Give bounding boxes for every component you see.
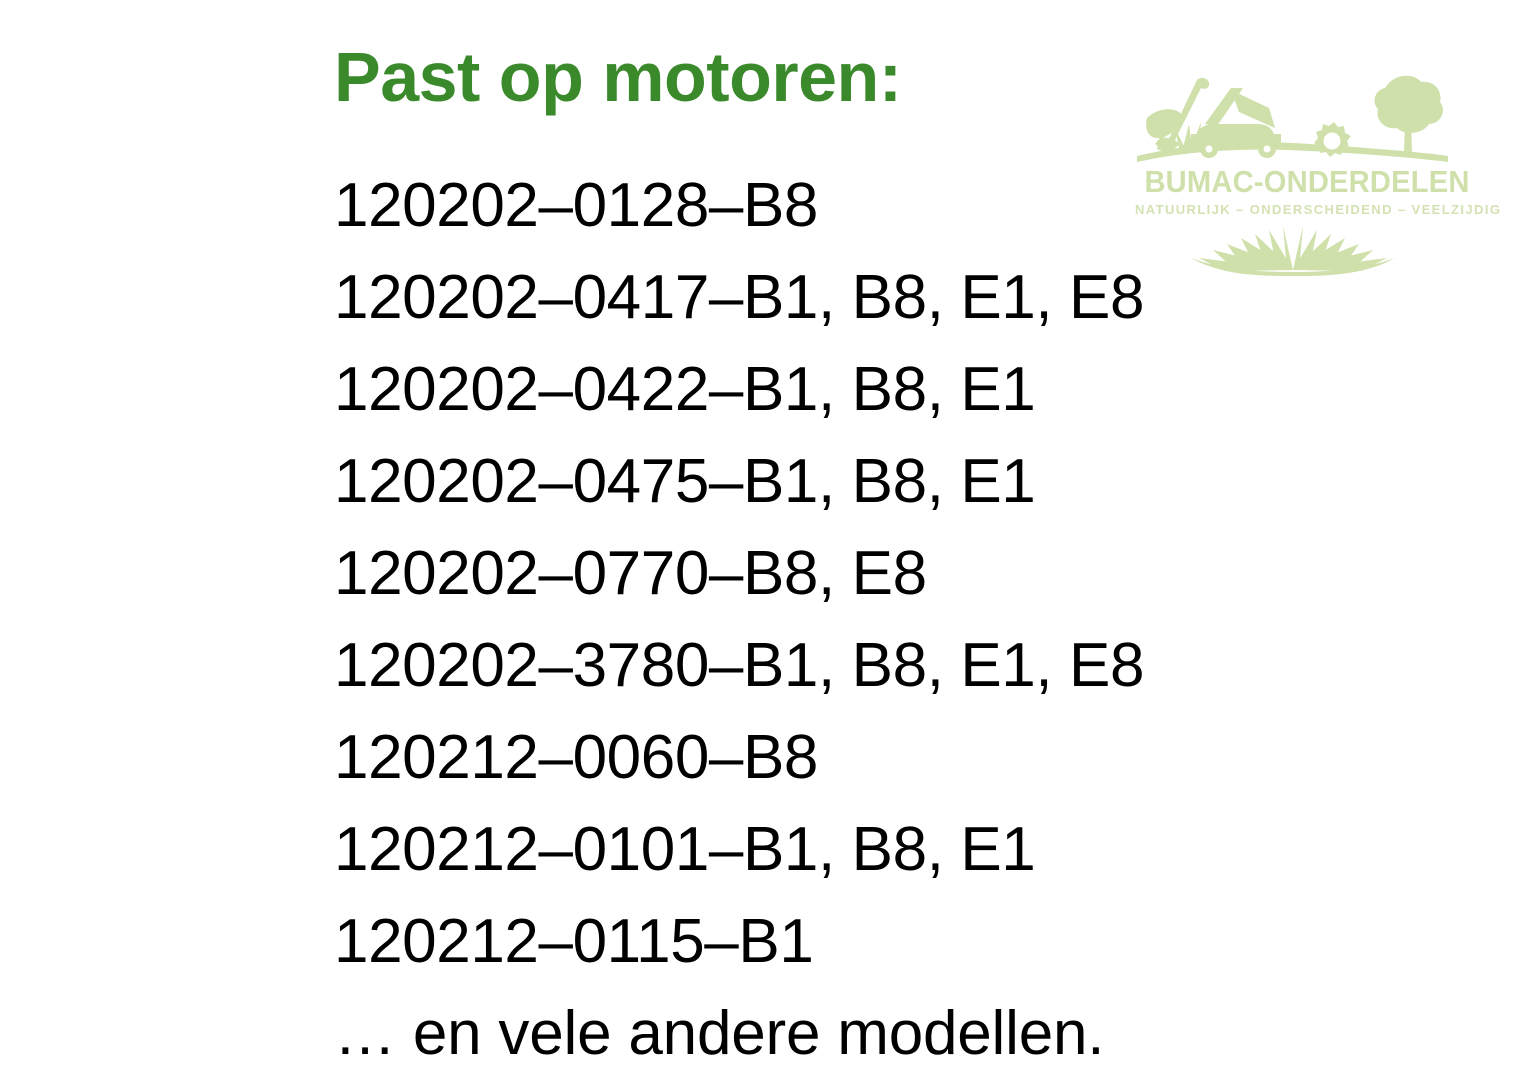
list-item: 120212–0060–B8 [334,712,1154,804]
logo-tagline: NATUURLIJK – ONDERSCHEIDEND – VEELZIJDIG [1135,202,1450,217]
list-item: 120202–0417–B1, B8, E1, E8 [334,252,1154,344]
list-item: 120202–0422–B1, B8, E1 [334,344,1154,436]
list-closing-note: … en vele andere modellen. [334,988,1154,1080]
lawn-mower-grassbag-icon [1231,90,1275,128]
hill-icon [1137,142,1448,162]
page-title: Past op motoren: [334,42,902,112]
brand-logo: BUMAC-ONDERDELEN NATUURLIJK – ONDERSCHEI… [1135,52,1450,277]
list-item: 120202–0475–B1, B8, E1 [334,436,1154,528]
list-item: 120212–0115–B1 [334,896,1154,988]
poster-canvas: Past op motoren: 120202–0128–B8 120202–0… [0,0,1536,1024]
list-item: 120202–0128–B8 [334,160,1154,252]
list-item: 120202–0770–B8, E8 [334,528,1154,620]
list-item: 120212–0101–B1, B8, E1 [334,804,1154,896]
logo-wordmark: BUMAC-ONDERDELEN [1144,164,1440,200]
tree-icon [1374,76,1443,154]
compatible-engines-list: 120202–0128–B8 120202–0417–B1, B8, E1, E… [334,160,1154,1080]
grass-burst-icon [1183,220,1403,276]
list-item: 120202–3780–B1, B8, E1, E8 [334,620,1154,712]
logo-illustration [1135,52,1450,172]
